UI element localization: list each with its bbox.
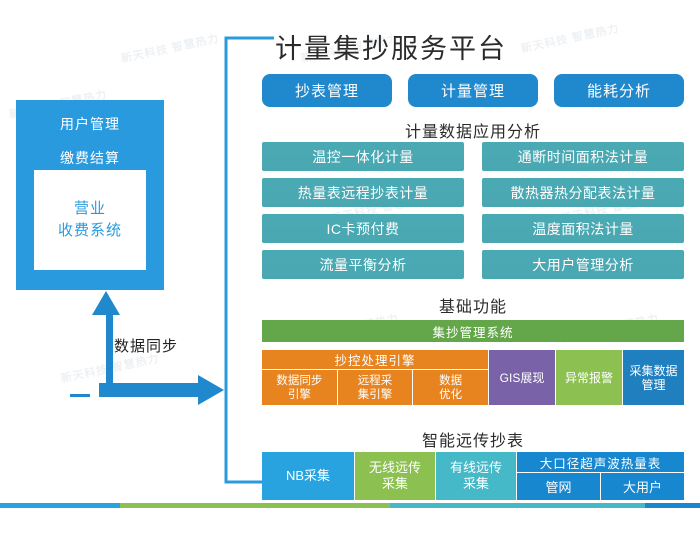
watermark: 新天科技 智慧热力 <box>519 20 620 56</box>
module-label-line-1: 采集数据 <box>629 364 677 378</box>
pill-energy-analysis[interactable]: 能耗分析 <box>554 74 684 107</box>
section-heading-meter: 智能远传抄表 <box>262 427 684 451</box>
engine-sub-line-1: 远程采 <box>358 374 393 388</box>
analysis-item[interactable]: 通断时间面积法计量 <box>482 142 684 171</box>
billing-system-inner-line-1: 营业 <box>74 198 106 220</box>
analysis-item[interactable]: IC卡预付费 <box>262 214 464 243</box>
stripe-segment-4 <box>645 503 700 508</box>
module-collected-data-management[interactable]: 采集数据 管理 <box>622 350 684 405</box>
smart-meter-row: NB采集 无线远传 采集 有线远传 采集 大口径超声波热量表 管网 大用户 <box>262 452 684 500</box>
left-panel-line-2: 缴费结算 <box>16 148 164 168</box>
meter-cell-line-1: 无线远传 <box>369 460 421 476</box>
section-heading-basic: 基础功能 <box>262 293 684 317</box>
watermark: 新天科技 智慧热力 <box>119 30 220 66</box>
large-ultrasonic-title: 大口径超声波热量表 <box>517 452 684 473</box>
page-title: 计量集抄服务平台 <box>275 27 507 66</box>
module-label-line-2: 管理 <box>629 378 677 392</box>
stripe-segment-2 <box>120 503 390 508</box>
left-panel-line-1: 用户管理 <box>16 114 164 134</box>
pill-metering-management[interactable]: 计量管理 <box>408 74 538 107</box>
module-abnormal-alarm[interactable]: 异常报警 <box>555 350 622 405</box>
billing-system-panel[interactable]: 用户管理 缴费结算 营业 收费系统 <box>16 100 164 290</box>
engine-sub-line-2: 优化 <box>439 388 462 402</box>
analysis-item[interactable]: 大用户管理分析 <box>482 250 684 279</box>
analysis-item[interactable]: 流量平衡分析 <box>262 250 464 279</box>
stripe-segment-1 <box>0 503 120 508</box>
processing-engine-title: 抄控处理引擎 <box>262 350 488 370</box>
section-heading-analysis: 计量数据应用分析 <box>262 118 684 142</box>
meter-cell-wired-collection[interactable]: 有线远传 采集 <box>435 452 516 500</box>
meter-cell-line-2: 采集 <box>450 476 502 492</box>
billing-system-inner-card[interactable]: 营业 收费系统 <box>34 170 146 270</box>
engine-sub-remote-collection[interactable]: 远程采 集引擎 <box>337 370 413 405</box>
diagram-canvas: 新天科技 智慧热力 新天科技 智慧热力 新天科技 智慧热力 新天科技 智慧热力 … <box>0 0 700 537</box>
footer-color-stripe <box>0 503 700 508</box>
engine-sub-line-1: 数据同步 <box>276 374 322 388</box>
analysis-item[interactable]: 温度面积法计量 <box>482 214 684 243</box>
top-nav-pills: 抄表管理 计量管理 能耗分析 <box>262 74 684 107</box>
bracket-left-stub <box>0 394 90 400</box>
analysis-grid: 温控一体化计量 通断时间面积法计量 热量表远程抄表计量 散热器热分配表法计量 I… <box>262 142 684 279</box>
analysis-item[interactable]: 温控一体化计量 <box>262 142 464 171</box>
engine-sub-data-sync[interactable]: 数据同步 引擎 <box>262 370 337 405</box>
engine-sub-line-2: 集引擎 <box>358 388 393 402</box>
analysis-item[interactable]: 热量表远程抄表计量 <box>262 178 464 207</box>
engine-sub-data-optimization[interactable]: 数据 优化 <box>412 370 488 405</box>
processing-engine-block[interactable]: 抄控处理引擎 数据同步 引擎 远程采 集引擎 数据 优化 <box>262 350 488 405</box>
collection-management-system-bar[interactable]: 集抄管理系统 <box>262 320 684 342</box>
meter-cell-line-1: 有线远传 <box>450 460 502 476</box>
analysis-item[interactable]: 散热器热分配表法计量 <box>482 178 684 207</box>
engine-sub-line-1: 数据 <box>439 374 462 388</box>
engine-sub-line-2: 引擎 <box>288 388 311 402</box>
large-ultrasonic-subs: 管网 大用户 <box>517 473 684 500</box>
meter-cell-nb-collection[interactable]: NB采集 <box>262 452 354 500</box>
meter-cell-line-2: 采集 <box>369 476 421 492</box>
billing-system-inner-line-2: 收费系统 <box>58 220 122 242</box>
processing-engine-subs: 数据同步 引擎 远程采 集引擎 数据 优化 <box>262 370 488 405</box>
module-gis-display[interactable]: GIS展现 <box>488 350 555 405</box>
ultrasonic-sub-pipe-network[interactable]: 管网 <box>517 473 600 500</box>
stripe-segment-3 <box>390 503 645 508</box>
ultrasonic-sub-large-user[interactable]: 大用户 <box>600 473 684 500</box>
basic-function-row: 抄控处理引擎 数据同步 引擎 远程采 集引擎 数据 优化 GIS展现 异常报警 <box>262 350 684 405</box>
meter-cell-large-ultrasonic[interactable]: 大口径超声波热量表 管网 大用户 <box>516 452 684 500</box>
pill-meter-reading-management[interactable]: 抄表管理 <box>262 74 392 107</box>
meter-cell-wireless-collection[interactable]: 无线远传 采集 <box>354 452 435 500</box>
data-sync-label: 数据同步 <box>114 335 178 356</box>
